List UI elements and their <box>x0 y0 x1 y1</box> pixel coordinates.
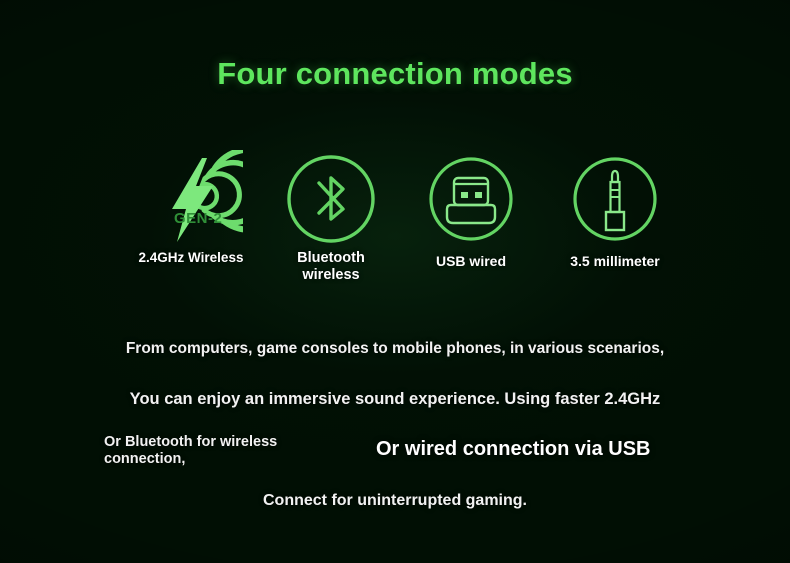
mode-label-bluetooth: Bluetooth wireless <box>256 250 406 284</box>
mode-item-35mm: 3.5 millimeter <box>540 150 690 269</box>
mode-item-usb-wired: USB wired <box>396 150 546 269</box>
wireless-24ghz-icon <box>116 150 266 248</box>
mode-item-bluetooth: Bluetooth wireless <box>256 150 406 284</box>
body-split-row: Or Bluetooth for wireless connection, Or… <box>0 432 790 488</box>
connection-modes-row: 2.4GHz Wireless GEN-2 Bluetooth wireless <box>112 150 688 300</box>
body-bluetooth-note-line1: Or Bluetooth for wireless <box>104 434 364 451</box>
page-title: Four connection modes <box>0 56 790 92</box>
mode-label-bluetooth-line1: Bluetooth <box>256 250 406 267</box>
bluetooth-icon <box>256 150 406 248</box>
audio-jack-35mm-icon <box>540 150 690 248</box>
usb-plug-icon <box>396 150 546 248</box>
body-bluetooth-note-line2: connection, <box>104 451 364 468</box>
body-line-2: You can enjoy an immersive sound experie… <box>0 390 790 409</box>
mode-item-24ghz-wireless: 2.4GHz Wireless <box>116 150 266 265</box>
body-line-4: Connect for uninterrupted gaming. <box>0 492 790 510</box>
gen2-badge: GEN-2 <box>174 210 222 227</box>
body-bluetooth-note: Or Bluetooth for wireless connection, <box>104 434 364 468</box>
mode-label-bluetooth-line2: wireless <box>256 267 406 284</box>
mode-label-usb-wired: USB wired <box>396 254 546 269</box>
body-usb-note: Or wired connection via USB <box>376 438 706 461</box>
body-line-1: From computers, game consoles to mobile … <box>0 340 790 358</box>
promo-banner: Four connection modes <box>0 0 790 563</box>
mode-label-24ghz-wireless: 2.4GHz Wireless <box>116 250 266 265</box>
mode-label-35mm: 3.5 millimeter <box>540 254 690 269</box>
